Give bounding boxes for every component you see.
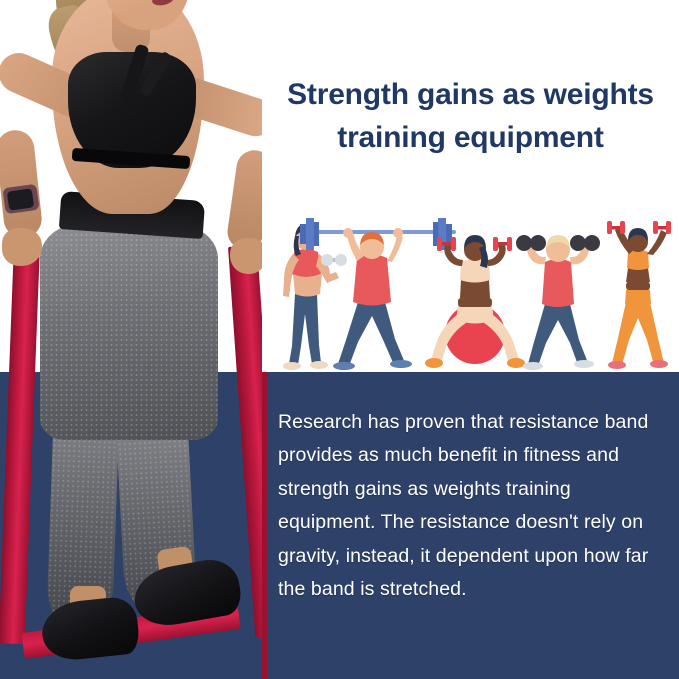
infographic-canvas: Strength gains as weights training equip…: [0, 0, 679, 679]
description-panel: Research has proven that resistance band…: [262, 372, 679, 679]
figure-man-overhead-barbell-press: [300, 218, 456, 370]
headline-line-2: training equipment: [268, 117, 673, 160]
figure-woman-arms-raised: [607, 221, 671, 369]
model-left-hand: [2, 228, 42, 266]
figure-man-shoulder-press: [516, 235, 600, 370]
description-text: Research has proven that resistance band…: [278, 406, 663, 607]
headline-line-1: Strength gains as weights: [268, 74, 673, 117]
model-wristwatch-face: [7, 188, 34, 210]
figures-svg: [262, 206, 679, 372]
dumbbell-small: [321, 254, 347, 266]
exercise-figures-illustration: [262, 206, 679, 372]
model-right-hand: [230, 238, 262, 274]
headline: Strength gains as weights training equip…: [262, 74, 679, 159]
product-photo: [0, 0, 262, 679]
figure-woman-on-exercise-ball: [425, 235, 525, 368]
model-leggings: [40, 224, 218, 440]
